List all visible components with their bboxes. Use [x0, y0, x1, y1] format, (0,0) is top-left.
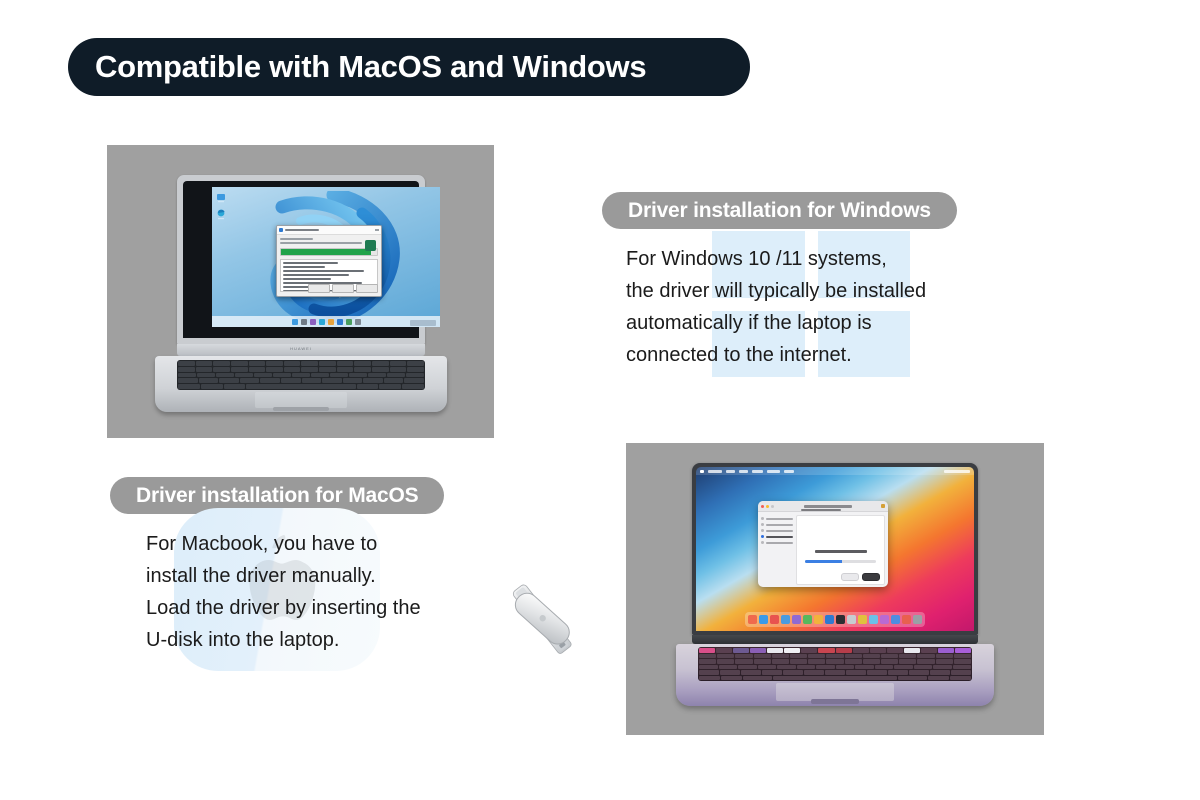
windows-dialog-status-badge [365, 240, 376, 251]
macos-section-body: For Macbook, you have to install the dri… [146, 528, 421, 656]
continue-button[interactable] [862, 573, 880, 581]
taskbar-icon-widgets[interactable] [310, 319, 316, 325]
dock-icon-mail[interactable] [781, 615, 790, 624]
dock-icon-photos[interactable] [792, 615, 801, 624]
step-summary [761, 541, 793, 544]
menu-window[interactable] [767, 470, 780, 473]
menu-help[interactable] [784, 470, 794, 473]
minimize-icon[interactable] [766, 505, 769, 508]
windows-section-body: For Windows 10 /11 systems, the driver w… [626, 243, 926, 371]
macos-installer-heading [801, 509, 841, 511]
taskbar-icon-settings[interactable] [355, 319, 361, 325]
step-destination-select [761, 523, 793, 526]
windows-laptop-brand: HUAWEI [290, 346, 312, 351]
macbook-base [676, 644, 994, 706]
macos-install-progress-bar [805, 560, 876, 563]
macos-installer-steps [758, 512, 796, 587]
macos-status-menus[interactable] [944, 470, 970, 473]
page-title-banner: Compatible with MacOS and Windows [68, 38, 750, 96]
dock-icon-terminal[interactable] [836, 615, 845, 624]
usb-flash-drive-illustration [494, 578, 590, 660]
dock-icon-appstore[interactable] [825, 615, 834, 624]
macbook-illustration [676, 463, 994, 713]
dock-icon-music[interactable] [902, 615, 911, 624]
windows-laptop-trackpad [255, 392, 347, 408]
windows-section-heading-pill: Driver installation for Windows [602, 192, 957, 229]
macbook-lid [692, 463, 978, 635]
taskbar-icon-start[interactable] [292, 319, 298, 325]
dock-icon-launchpad[interactable] [759, 615, 768, 624]
macos-menu-bar[interactable] [696, 467, 974, 475]
macos-dialog-body [758, 512, 888, 587]
dock-icon-finder[interactable] [748, 615, 757, 624]
macos-installer-dialog[interactable] [758, 501, 888, 587]
next-button[interactable] [332, 284, 354, 293]
desktop-icon-edge[interactable] [216, 208, 226, 220]
menu-edit[interactable] [739, 470, 748, 473]
macos-dialog-title-text [804, 505, 852, 508]
dock-icon-safari[interactable] [770, 615, 779, 624]
windows-dialog-title-text [285, 229, 319, 231]
dock-icon-podcasts[interactable] [880, 615, 889, 624]
zoom-icon[interactable] [771, 505, 774, 508]
taskbar-icon-edge[interactable] [319, 319, 325, 325]
taskbar-system-tray[interactable] [410, 320, 436, 326]
dock-icon-notes[interactable] [814, 615, 823, 624]
back-button[interactable] [308, 284, 330, 293]
macos-installer-status-text [815, 550, 867, 553]
windows-taskbar[interactable] [212, 316, 440, 327]
macbook-chin [692, 635, 978, 644]
windows-dialog-subtext [280, 242, 362, 244]
cancel-button[interactable] [356, 284, 378, 293]
windows-laptop-chin: HUAWEI [177, 344, 425, 356]
windows-dialog-heading [280, 238, 313, 240]
desktop-icon-thispc[interactable] [216, 192, 226, 204]
windows-laptop-base [155, 356, 447, 412]
windows-laptop-illustration: HUAWEI [155, 175, 447, 415]
menu-view[interactable] [752, 470, 763, 473]
windows-installer-dialog[interactable] [276, 225, 382, 297]
close-icon[interactable] [375, 229, 379, 231]
windows-dialog-titlebar [277, 226, 381, 235]
windows-dialog-app-icon [279, 228, 283, 232]
macbook-photo-panel [626, 443, 1044, 735]
apple-menu-icon[interactable] [700, 470, 704, 473]
macos-dock[interactable] [745, 612, 925, 627]
step-installation-type [761, 529, 793, 532]
windows-laptop-keyboard [177, 360, 425, 390]
dock-icon-messages[interactable] [803, 615, 812, 624]
dock-icon-trash[interactable] [913, 615, 922, 624]
step-introduction [761, 517, 793, 520]
go-back-button[interactable] [841, 573, 859, 581]
macos-section-heading: Driver installation for MacOS [136, 484, 418, 508]
dock-icon-settings[interactable] [891, 615, 900, 624]
taskbar-icon-explorer[interactable] [328, 319, 334, 325]
windows-laptop-photo-panel: HUAWEI [107, 145, 494, 438]
macos-dialog-app-icon [881, 504, 885, 508]
close-icon[interactable] [761, 505, 764, 508]
macbook-screen [696, 467, 974, 631]
dock-icon-reminders[interactable] [858, 615, 867, 624]
dock-icon-preview[interactable] [847, 615, 856, 624]
windows-laptop-screen [212, 187, 440, 327]
windows-install-progress-bar [280, 248, 378, 256]
menu-file[interactable] [726, 470, 735, 473]
taskbar-icon-installer[interactable] [346, 319, 352, 325]
macbook-latch-notch [811, 699, 859, 704]
dock-icon-facetime[interactable] [869, 615, 878, 624]
macos-installer-content [796, 515, 885, 585]
step-installation [761, 535, 793, 538]
windows-laptop-lid [177, 175, 425, 344]
taskbar-icon-search[interactable] [301, 319, 307, 325]
menu-app-name[interactable] [708, 470, 722, 473]
windows-section-heading: Driver installation for Windows [628, 199, 931, 223]
page-title: Compatible with MacOS and Windows [95, 49, 646, 85]
macos-dialog-buttons[interactable] [841, 573, 880, 581]
macbook-keyboard [698, 647, 972, 681]
windows-laptop-latch-notch [273, 407, 329, 411]
windows-dialog-buttons[interactable] [308, 284, 378, 293]
taskbar-icon-store[interactable] [337, 319, 343, 325]
